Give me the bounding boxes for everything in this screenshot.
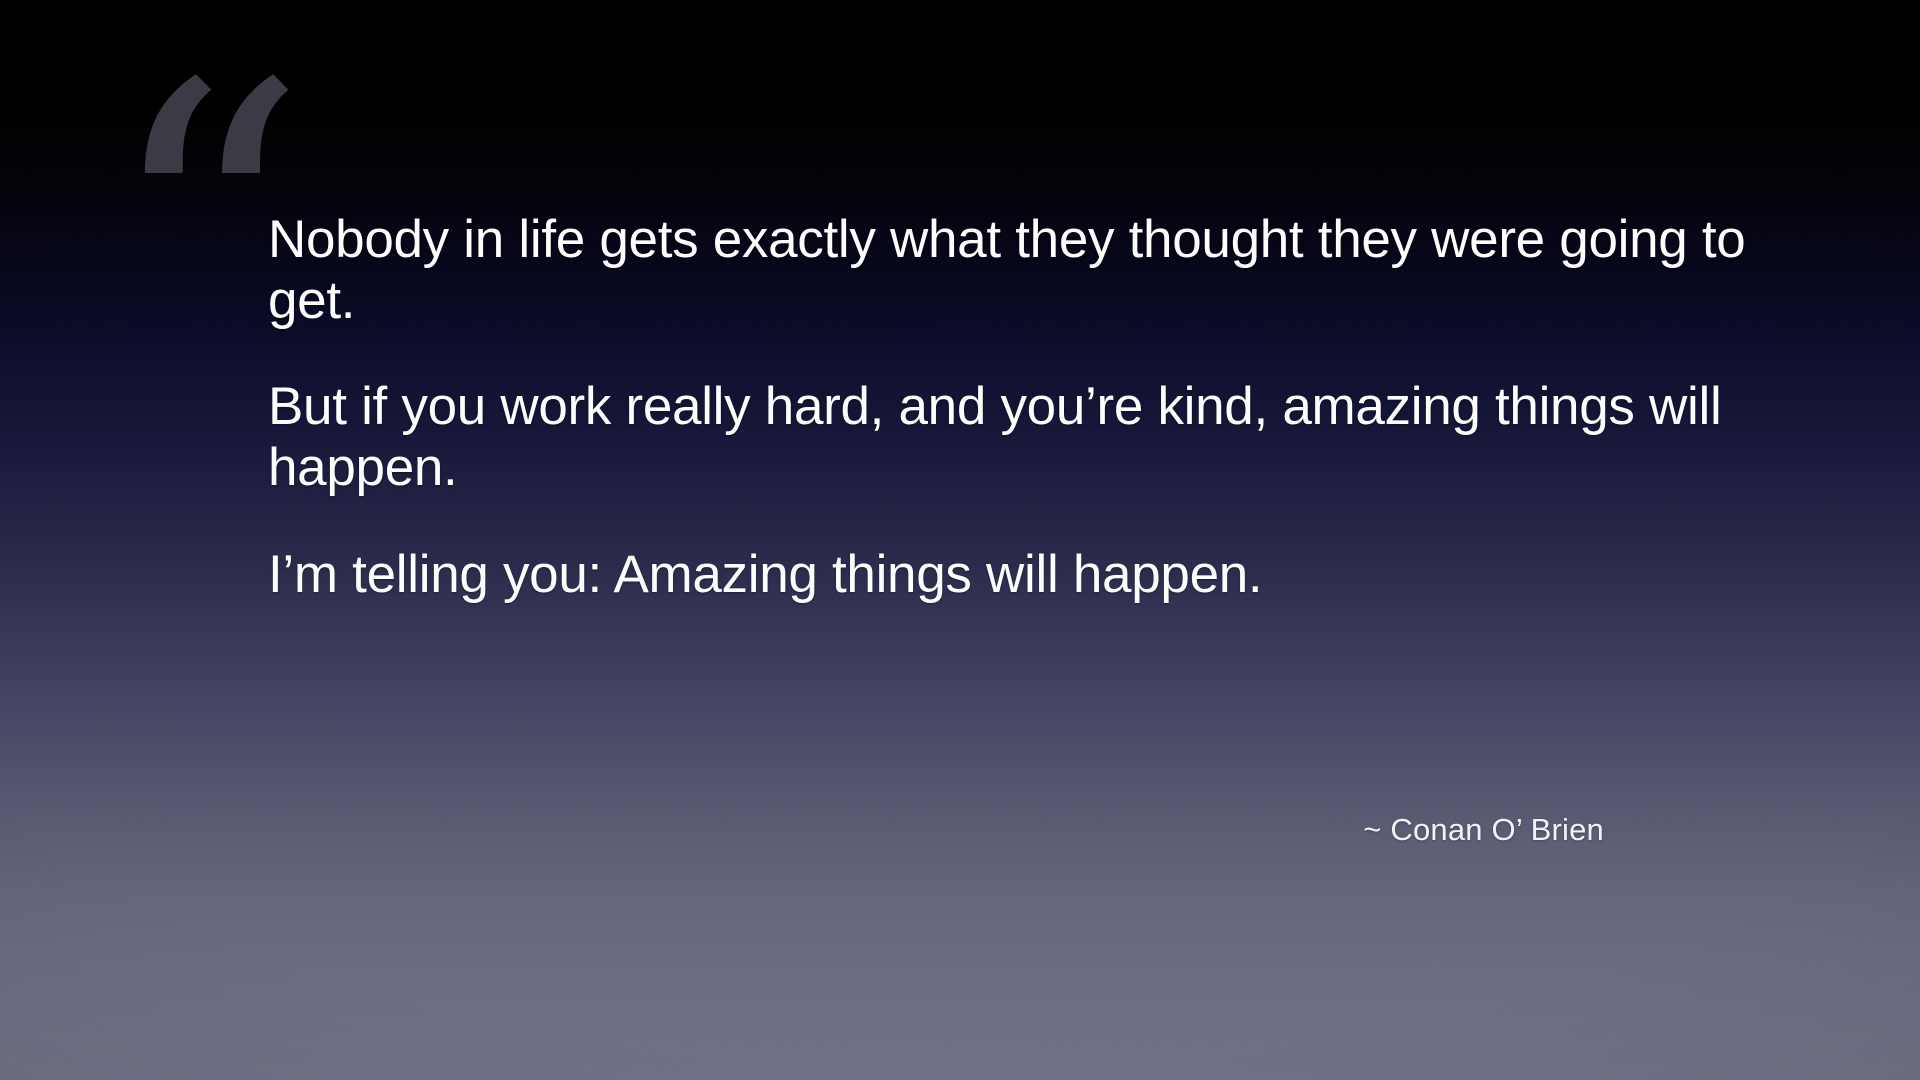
quote-slide: “ Nobody in life gets exactly what they …	[0, 0, 1920, 1080]
quote-paragraph-3: I’m telling you: Amazing things will hap…	[268, 545, 1758, 606]
quote-attribution: ~ Conan O’ Brien	[268, 812, 1604, 848]
left-double-quotation-mark-icon: “	[104, 34, 295, 434]
quote-paragraph-1: Nobody in life gets exactly what they th…	[268, 210, 1758, 331]
quote-text-block: Nobody in life gets exactly what they th…	[268, 210, 1758, 605]
quote-paragraph-2: But if you work really hard, and you’re …	[268, 377, 1758, 498]
